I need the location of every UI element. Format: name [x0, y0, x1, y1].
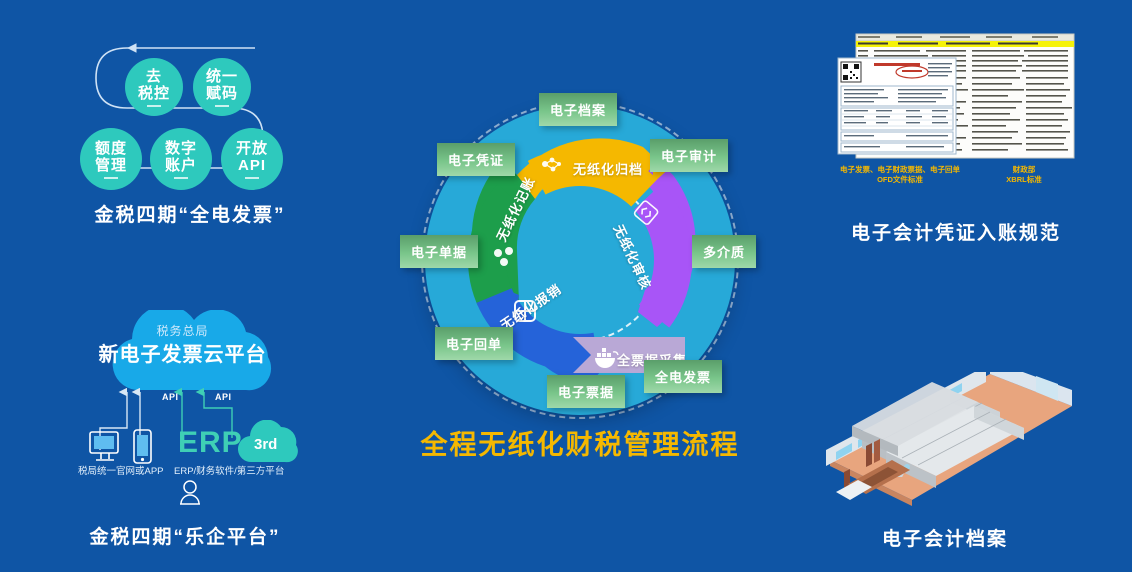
top-left-caption: 金税四期“全电发票”: [55, 200, 325, 227]
cloud-title: 新电子发票云平台: [70, 338, 295, 367]
bubble-underline: [104, 177, 118, 179]
archive-room-isometric-image: [800, 372, 1090, 512]
bubble-line1: 去: [146, 68, 162, 85]
left-channel-label: 税局统一官网或APP: [78, 463, 164, 477]
bottom-right-caption: 电子会计档案: [800, 524, 1090, 551]
bubble-underline: [174, 177, 188, 179]
cloud-subtitle: 税务总局: [70, 322, 295, 339]
arc-label-guidang: 无纸化归档: [573, 159, 643, 178]
api-label-right: API: [215, 392, 232, 402]
bubble-eduguanli[interactable]: 额度 管理: [80, 128, 142, 190]
person-icon: [178, 480, 202, 506]
bubble-line1: 数字: [165, 140, 197, 157]
tag-duojiezhi[interactable]: 多介质: [692, 235, 756, 268]
doc-caption-right-line2: XBRL标准: [972, 174, 1076, 185]
bottom-left-caption: 金税四期“乐企平台”: [55, 522, 315, 549]
bubble-line2: API: [238, 157, 266, 174]
phone-icon: [132, 428, 154, 466]
electronic-archive-panel: 电子会计档案: [800, 372, 1090, 552]
bubble-line2: 管理: [95, 157, 127, 174]
bubble-line1: 开放: [236, 140, 268, 157]
bubble-underline: [147, 105, 161, 107]
center-title: 全程无纸化财税管理流程: [395, 423, 765, 462]
leqi-platform-panel: 税务总局 新电子发票云平台 API API ERP 3rd 税局统一官网或APP: [70, 300, 380, 550]
bubble-underline: [215, 105, 229, 107]
bubble-dequshuikong[interactable]: 去 税控: [125, 58, 183, 116]
accounting-voucher-panel: 电子发票、电子财政票据、电子回单 OFD文件标准 财政部 XBRL标准 电子会计…: [836, 32, 1084, 262]
doc-caption-left-line2: OFD文件标准: [836, 174, 964, 185]
bubble-underline: [245, 177, 259, 179]
top-right-caption: 电子会计凭证入账规范: [831, 218, 1081, 245]
tag-dianzishenji[interactable]: 电子审计: [650, 139, 728, 172]
snake-flow-arrow: [80, 20, 410, 220]
bubble-line2: 税控: [138, 85, 170, 102]
tag-dianzipiaoju[interactable]: 电子票据: [547, 375, 625, 408]
tag-dianzipingzheng[interactable]: 电子凭证: [437, 143, 515, 176]
jinshui-invoice-panel: 去 税控 统一 赋码 额度 管理 数字 账户 开放 API 金税四期“全电发票”: [80, 20, 410, 250]
bubble-line2: 账户: [165, 157, 197, 174]
third-party-label: 3rd: [254, 436, 277, 453]
tag-dianzihuidan[interactable]: 电子回单: [435, 327, 513, 360]
monitor-icon: [88, 430, 122, 466]
bubble-line2: 赋码: [206, 85, 238, 102]
paperless-process-diagram: 无纸化归档 无纸化审核 全票据采集 无纸化报销 无纸化记账 电子档案 电子审计 …: [395, 75, 765, 475]
right-channel-label: ERP/财务软件/第三方平台: [174, 463, 284, 477]
tag-quandianfapiao[interactable]: 全电发票: [644, 360, 722, 393]
bubble-tongyifuma[interactable]: 统一 赋码: [193, 58, 251, 116]
erp-label: ERP: [178, 426, 243, 460]
tag-dianzidangan[interactable]: 电子档案: [539, 93, 617, 126]
bubble-kaifangapi[interactable]: 开放 API: [221, 128, 283, 190]
tag-dianzidanju[interactable]: 电子单据: [400, 235, 478, 268]
api-label-left: API: [162, 392, 179, 402]
efapiao-document-image: [836, 32, 1076, 160]
bubble-shuzizhanghu[interactable]: 数字 账户: [150, 128, 212, 190]
bubble-line1: 统一: [206, 68, 238, 85]
bubble-line1: 额度: [95, 140, 127, 157]
